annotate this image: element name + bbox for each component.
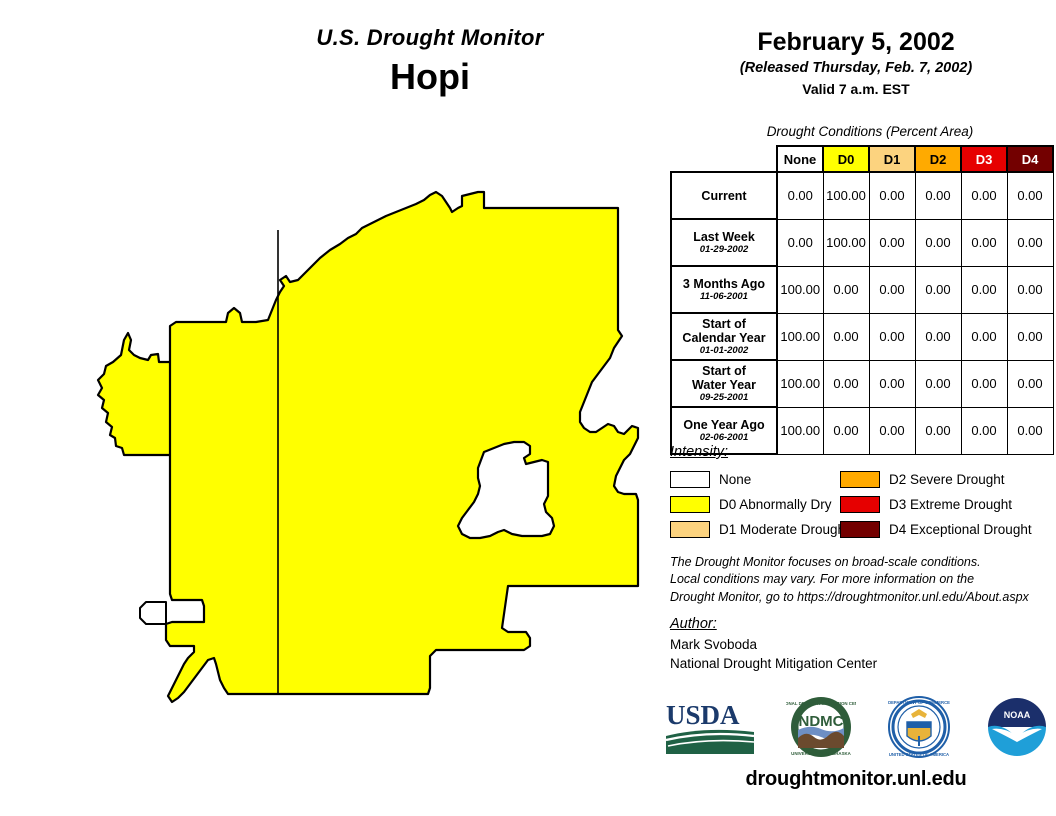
legend-item: D0 Abnormally Dry (670, 496, 840, 513)
row-label-date: 01-29-2002 (676, 245, 772, 256)
cell-2-d4: 0.00 (1007, 266, 1053, 313)
legend-swatch (670, 471, 710, 488)
map-date: February 5, 2002 (660, 28, 1052, 56)
cell-1-d4: 0.00 (1007, 219, 1053, 266)
legend-item: D1 Moderate Drought (670, 521, 840, 538)
row-label-text: Water Year (676, 378, 772, 392)
disclaimer-line-1: The Drought Monitor focuses on broad-sca… (670, 554, 1050, 571)
cell-0-d0: 100.00 (823, 172, 869, 219)
cell-1-d2: 0.00 (915, 219, 961, 266)
table-row: Last Week01-29-20020.00100.000.000.000.0… (671, 219, 1053, 266)
table-row: Current0.00100.000.000.000.000.00 (671, 172, 1053, 219)
author-block: Author: Mark Svoboda National Drought Mi… (670, 616, 1050, 673)
row-label-text: Current (676, 189, 772, 203)
cell-3-d4: 0.00 (1007, 313, 1053, 360)
drought-monitor-title: U.S. Drought Monitor (180, 26, 680, 50)
legend-swatch (670, 521, 710, 538)
row-label-2: 3 Months Ago11-06-2001 (671, 266, 777, 313)
svg-text:USDA: USDA (666, 700, 740, 730)
column-header-d1: D1 (869, 146, 915, 172)
cell-4-d1: 0.00 (869, 360, 915, 407)
legend-item: D2 Severe Drought (840, 471, 1045, 488)
table-corner-spacer (671, 146, 777, 172)
row-label-date: 02-06-2001 (676, 433, 772, 444)
svg-text:DEPARTMENT OF COMMERCE: DEPARTMENT OF COMMERCE (888, 700, 950, 705)
cell-3-d2: 0.00 (915, 313, 961, 360)
legend-swatch (840, 521, 880, 538)
legend-label: D4 Exceptional Drought (889, 522, 1032, 537)
cell-1-d1: 0.00 (869, 219, 915, 266)
cell-2-d3: 0.00 (961, 266, 1007, 313)
svg-text:UNIVERSITY OF NEBRASKA: UNIVERSITY OF NEBRASKA (791, 751, 852, 756)
author-organization: National Drought Mitigation Center (670, 654, 1050, 673)
usdc-seal[interactable]: DEPARTMENT OF COMMERCE UNITED STATES OF … (884, 696, 954, 758)
cell-3-d1: 0.00 (869, 313, 915, 360)
row-label-date: 01-01-2002 (676, 346, 772, 357)
row-label-1: Last Week01-29-2002 (671, 219, 777, 266)
map-notch-bottom-left (140, 602, 166, 624)
legend-grid: NoneD2 Severe DroughtD0 Abnormally DryD3… (670, 467, 1045, 542)
row-label-text: Start of (676, 317, 772, 331)
cell-1-d0: 100.00 (823, 219, 869, 266)
legend-label: D2 Severe Drought (889, 472, 1005, 487)
column-header-d2: D2 (915, 146, 961, 172)
cell-4-none: 100.00 (777, 360, 823, 407)
map-region-main (166, 192, 638, 702)
svg-text:NOAA: NOAA (1004, 710, 1031, 720)
noaa-logo[interactable]: NOAA (982, 696, 1052, 758)
column-header-d0: D0 (823, 146, 869, 172)
table-header-row: NoneD0D1D2D3D4 (671, 146, 1053, 172)
row-label-text: Last Week (676, 230, 772, 244)
cell-0-d3: 0.00 (961, 172, 1007, 219)
author-name: Mark Svoboda (670, 635, 1050, 654)
legend-label: None (719, 472, 751, 487)
cell-4-d4: 0.00 (1007, 360, 1053, 407)
legend-item: D3 Extreme Drought (840, 496, 1045, 513)
cell-0-d2: 0.00 (915, 172, 961, 219)
cell-4-d0: 0.00 (823, 360, 869, 407)
cell-2-none: 100.00 (777, 266, 823, 313)
partner-logos: USDA NDMC NATIONAL DROUGHT MITIGATION CE… (662, 694, 1052, 760)
legend-swatch (840, 496, 880, 513)
cell-1-d3: 0.00 (961, 219, 1007, 266)
cell-2-d0: 0.00 (823, 266, 869, 313)
cell-2-d2: 0.00 (915, 266, 961, 313)
legend-swatch (840, 471, 880, 488)
table-row: Start ofCalendar Year01-01-2002100.000.0… (671, 313, 1053, 360)
disclaimer-text: The Drought Monitor focuses on broad-sca… (670, 554, 1050, 606)
row-label-text: 3 Months Ago (676, 277, 772, 291)
row-label-text: One Year Ago (676, 418, 772, 432)
column-header-d4: D4 (1007, 146, 1053, 172)
valid-time: Valid 7 a.m. EST (660, 81, 1052, 98)
map-svg (18, 150, 658, 730)
cell-4-d3: 0.00 (961, 360, 1007, 407)
table-row: Start ofWater Year09-25-2001100.000.000.… (671, 360, 1053, 407)
table-header: NoneD0D1D2D3D4 (671, 146, 1053, 172)
svg-text:NATIONAL DROUGHT MITIGATION CE: NATIONAL DROUGHT MITIGATION CENTER (786, 701, 856, 706)
author-label: Author: (670, 616, 1050, 632)
column-header-d3: D3 (961, 146, 1007, 172)
svg-text:NDMC: NDMC (799, 713, 844, 730)
cell-0-none: 0.00 (777, 172, 823, 219)
table-row: 3 Months Ago11-06-2001100.000.000.000.00… (671, 266, 1053, 313)
cell-3-none: 100.00 (777, 313, 823, 360)
usda-logo[interactable]: USDA (662, 696, 758, 758)
cell-2-d1: 0.00 (869, 266, 915, 313)
cell-0-d1: 0.00 (869, 172, 915, 219)
title-block: U.S. Drought Monitor Hopi (180, 26, 680, 98)
legend-label: D3 Extreme Drought (889, 497, 1012, 512)
cell-3-d0: 0.00 (823, 313, 869, 360)
legend-label: D0 Abnormally Dry (719, 497, 832, 512)
ndmc-logo[interactable]: NDMC NATIONAL DROUGHT MITIGATION CENTER … (786, 696, 856, 758)
row-label-0: Current (671, 172, 777, 219)
legend-item: D4 Exceptional Drought (840, 521, 1045, 538)
drought-map[interactable] (18, 150, 658, 730)
row-label-date: 09-25-2001 (676, 393, 772, 404)
cell-4-d2: 0.00 (915, 360, 961, 407)
region-title: Hopi (180, 56, 680, 97)
svg-text:UNITED STATES OF AMERICA: UNITED STATES OF AMERICA (889, 752, 949, 757)
disclaimer-line-3: Drought Monitor, go to https://droughtmo… (670, 589, 1050, 606)
row-label-4: Start ofWater Year09-25-2001 (671, 360, 777, 407)
date-block: February 5, 2002 (Released Thursday, Feb… (660, 28, 1052, 98)
release-date: (Released Thursday, Feb. 7, 2002) (660, 60, 1052, 77)
intensity-legend: Intensity: NoneD2 Severe DroughtD0 Abnor… (670, 444, 1045, 542)
legend-swatch (670, 496, 710, 513)
row-label-text: Start of (676, 364, 772, 378)
table-body: Current0.00100.000.000.000.000.00Last We… (671, 172, 1053, 454)
row-label-text: Calendar Year (676, 331, 772, 345)
legend-label: D1 Moderate Drought (719, 522, 849, 537)
row-label-3: Start ofCalendar Year01-01-2002 (671, 313, 777, 360)
site-url[interactable]: droughtmonitor.unl.edu (660, 768, 1052, 791)
drought-conditions-table: NoneD0D1D2D3D4 Current0.00100.000.000.00… (670, 145, 1054, 455)
legend-item: None (670, 471, 840, 488)
cell-3-d3: 0.00 (961, 313, 1007, 360)
cell-0-d4: 0.00 (1007, 172, 1053, 219)
cell-1-none: 0.00 (777, 219, 823, 266)
column-header-none: None (777, 146, 823, 172)
row-label-date: 11-06-2001 (676, 292, 772, 303)
table-caption: Drought Conditions (Percent Area) (700, 124, 1040, 139)
intensity-label: Intensity: (670, 444, 1045, 460)
disclaimer-line-2: Local conditions may vary. For more info… (670, 571, 1050, 588)
